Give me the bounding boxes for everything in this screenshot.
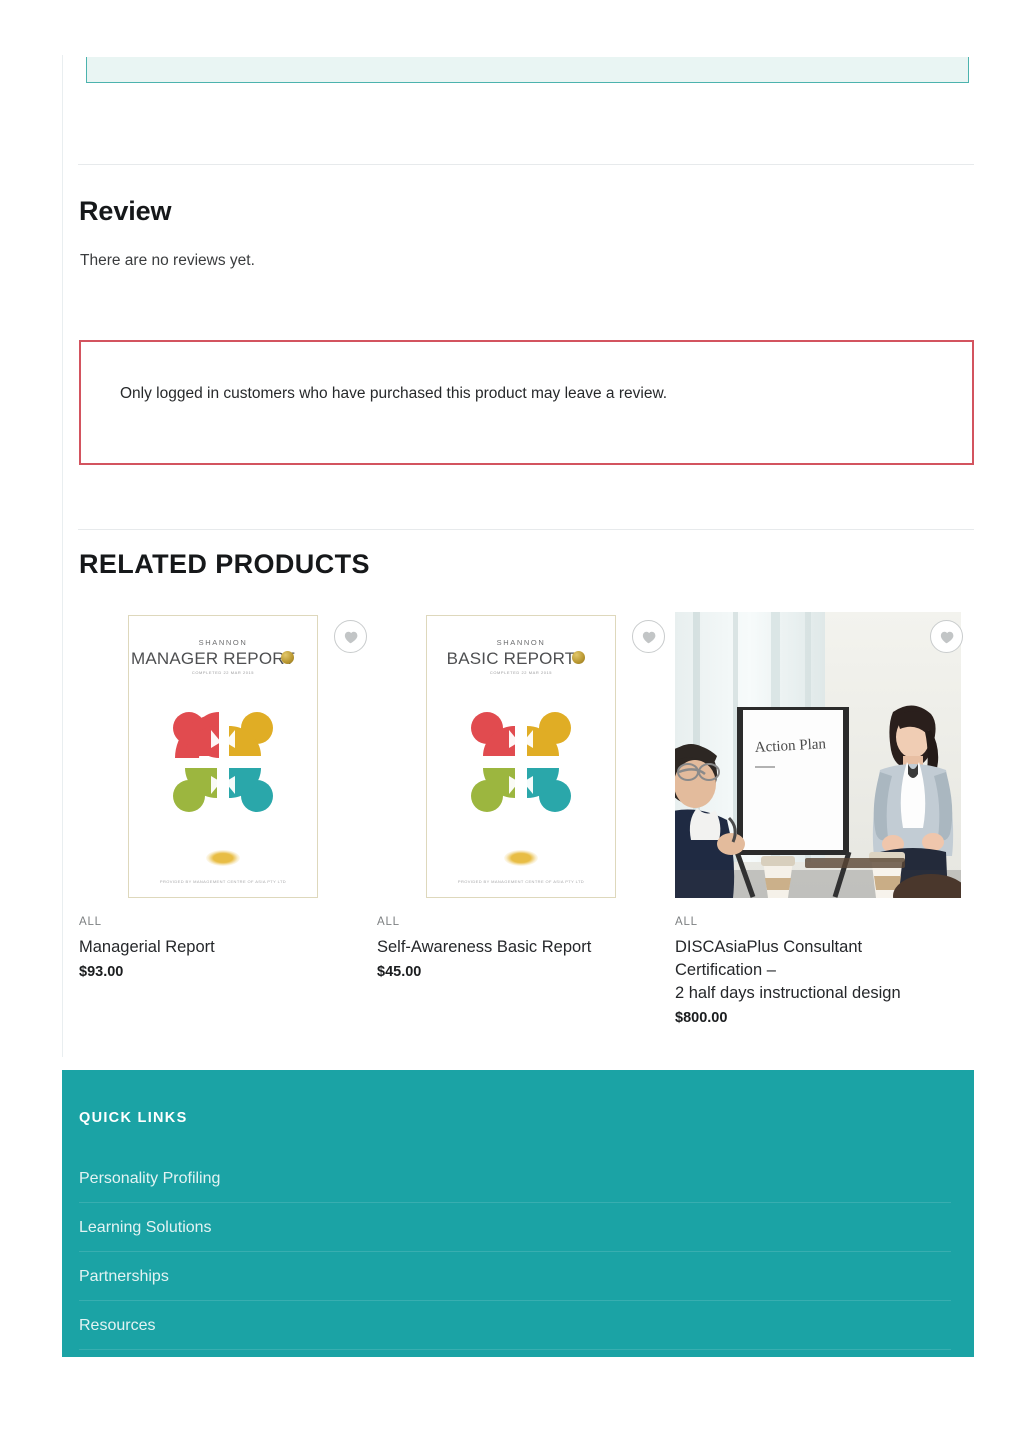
product-name[interactable]: DISCAsiaPlus Consultant Certification – … [675, 936, 945, 1005]
product-category[interactable]: ALL [79, 916, 377, 928]
product-thumbnail[interactable]: Action Plan [675, 612, 961, 898]
cover-footer-text: PROVIDED BY MANAGEMENT CENTRE OF ASIA PT… [129, 879, 317, 884]
section-divider-bottom [78, 529, 974, 530]
related-products-grid: SHANNON MANAGER REPORT COMPLETED 22 MAR … [79, 612, 974, 1026]
product-category[interactable]: ALL [377, 916, 675, 928]
footer-link-learning-solutions[interactable]: Learning Solutions [79, 1219, 951, 1252]
cover-title: MANAGER REPORT [129, 649, 297, 669]
footer-link-personality-profiling[interactable]: Personality Profiling [79, 1170, 951, 1203]
cover-seal-icon [281, 651, 294, 664]
footer-link-partnerships[interactable]: Partnerships [79, 1268, 951, 1301]
site-footer: QUICK LINKS Personality Profiling Learni… [62, 1070, 974, 1357]
no-reviews-text: There are no reviews yet. [80, 252, 255, 270]
training-session-photo: Action Plan [675, 612, 961, 898]
product-card[interactable]: Action Plan [675, 612, 973, 1026]
quick-links-list: Personality Profiling Learning Solutions… [79, 1170, 951, 1366]
cover-footer-text: PROVIDED BY MANAGEMENT CENTRE OF ASIA PT… [427, 879, 615, 884]
top-info-box [86, 57, 969, 83]
related-products-heading: RELATED PRODUCTS [79, 549, 370, 580]
product-category[interactable]: ALL [675, 916, 973, 928]
four-people-motif-icon [161, 700, 285, 824]
report-cover-artwork: SHANNON BASIC REPORT COMPLETED 22 MAR 20… [426, 615, 616, 898]
content-container-rule [62, 55, 63, 1057]
footer-link-resources[interactable]: Resources [79, 1317, 951, 1350]
report-cover-artwork: SHANNON MANAGER REPORT COMPLETED 22 MAR … [128, 615, 318, 898]
product-name[interactable]: Managerial Report [79, 936, 349, 959]
product-thumbnail[interactable]: SHANNON MANAGER REPORT COMPLETED 22 MAR … [79, 612, 365, 898]
wishlist-button[interactable] [632, 620, 665, 653]
wishlist-button[interactable] [930, 620, 963, 653]
product-thumbnail[interactable]: SHANNON BASIC REPORT COMPLETED 22 MAR 20… [377, 612, 663, 898]
product-price: $800.00 [675, 1010, 973, 1026]
login-required-text: Only logged in customers who have purcha… [120, 385, 667, 403]
cover-brand: SHANNON [427, 638, 615, 647]
product-card[interactable]: SHANNON MANAGER REPORT COMPLETED 22 MAR … [79, 612, 377, 1026]
cover-date: COMPLETED 22 MAR 2015 [432, 670, 611, 675]
wishlist-button[interactable] [334, 620, 367, 653]
section-divider-top [78, 164, 974, 165]
cover-title: BASIC REPORT [427, 649, 595, 669]
cover-logo-icon [129, 850, 317, 871]
cover-logo-icon [427, 850, 615, 871]
cover-brand: SHANNON [129, 638, 317, 647]
four-people-motif-icon [459, 700, 583, 824]
heart-icon [343, 630, 358, 644]
heart-icon [641, 630, 656, 644]
review-heading: Review [79, 196, 171, 227]
product-price: $93.00 [79, 964, 377, 980]
heart-icon [939, 630, 954, 644]
product-price: $45.00 [377, 964, 675, 980]
login-required-notice: Only logged in customers who have purcha… [79, 340, 974, 465]
quick-links-heading: QUICK LINKS [79, 1110, 188, 1126]
cover-seal-icon [572, 651, 585, 664]
product-name[interactable]: Self-Awareness Basic Report [377, 936, 647, 959]
product-page: Review There are no reviews yet. Only lo… [0, 0, 1024, 1449]
cover-date: COMPLETED 22 MAR 2015 [134, 670, 313, 675]
product-card[interactable]: SHANNON BASIC REPORT COMPLETED 22 MAR 20… [377, 612, 675, 1026]
